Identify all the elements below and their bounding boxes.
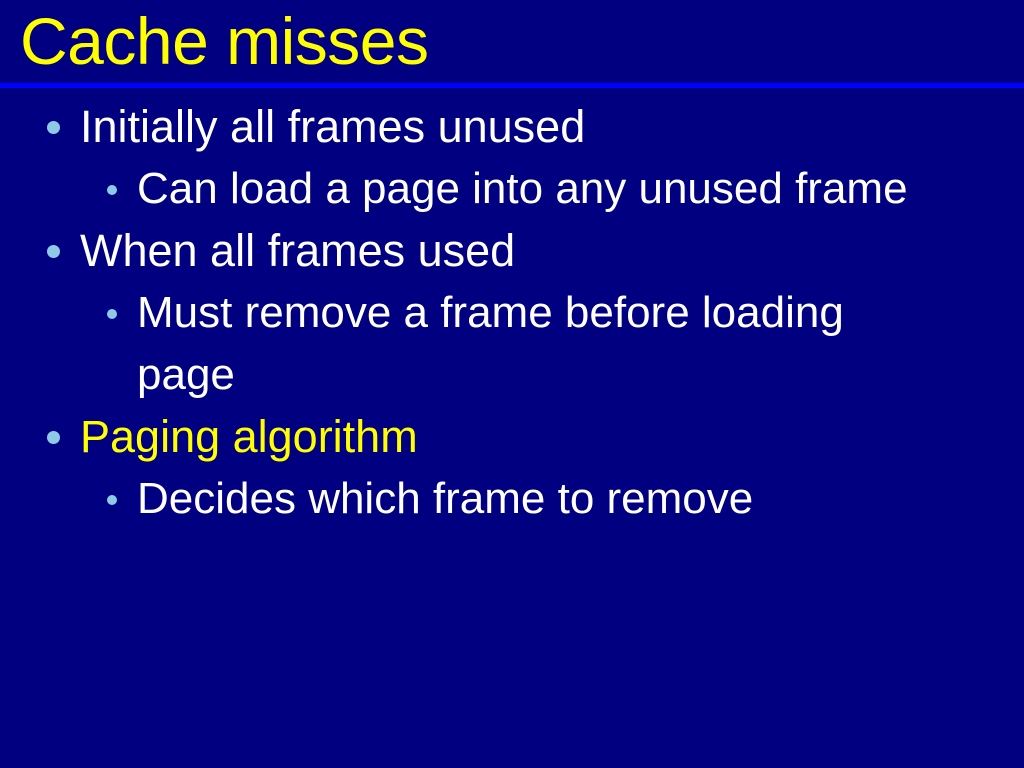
page-title: Cache misses (20, 0, 428, 85)
bullet-item-level2: Can load a page into any unused frame (0, 158, 1024, 220)
title-divider-rule (0, 83, 1024, 88)
bullet-text: When all frames used (80, 220, 1000, 282)
bullet-item-level1: Initially all frames unused (0, 96, 1024, 158)
slide-title-block: Cache misses (0, 0, 1024, 88)
bullet-item-level2: Must remove a frame before loading page (0, 282, 1024, 406)
presentation-slide: Cache misses Initially all frames unused… (0, 0, 1024, 768)
round-bullet-icon (47, 431, 60, 444)
round-bullet-icon (47, 245, 60, 258)
bullet-text: Decides which frame to remove (137, 468, 914, 530)
slide-body-outline: Initially all frames unused Can load a p… (0, 96, 1024, 530)
round-bullet-icon (107, 309, 117, 319)
bullet-text: Initially all frames unused (80, 96, 1000, 158)
round-bullet-icon (107, 495, 117, 505)
bullet-text: Paging algorithm (80, 406, 1000, 468)
round-bullet-icon (47, 121, 60, 134)
bullet-item-level1: When all frames used (0, 220, 1024, 282)
round-bullet-icon (107, 185, 117, 195)
bullet-item-level2: Decides which frame to remove (0, 468, 1024, 530)
bullet-text: Must remove a frame before loading page (137, 282, 914, 406)
bullet-item-level1-highlighted: Paging algorithm (0, 406, 1024, 468)
bullet-text: Can load a page into any unused frame (137, 158, 914, 220)
